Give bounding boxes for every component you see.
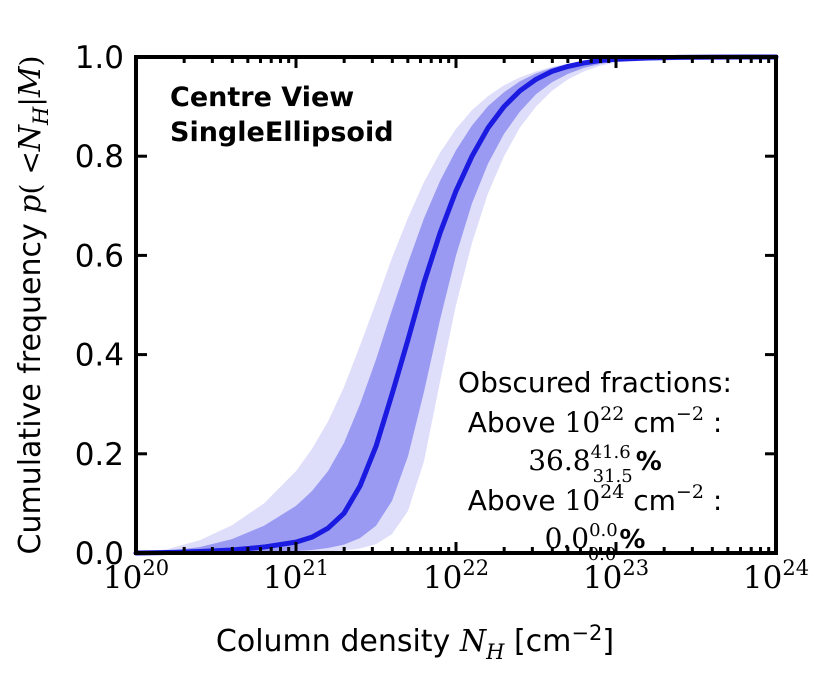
y-axis-title-bar: | <box>14 97 47 106</box>
x-axis-title-unit-close: ] <box>602 624 614 659</box>
y-axis-title-p: p <box>13 194 48 213</box>
y-tick-label-2: 0.4 <box>75 338 124 374</box>
x-tick-mantissa-1: 10 <box>263 560 302 596</box>
x-axis-title-unit-exponent: −2 <box>571 621 602 645</box>
y-axis-title-symbol-sub: H <box>29 106 53 126</box>
y-axis-title-paren-open: ( < <box>14 151 47 194</box>
x-axis-title: Column density NH [cm−2] <box>216 621 614 664</box>
above-24-unit-exponent: −2 <box>676 481 704 503</box>
x-tick-mantissa-0: 10 <box>103 560 142 596</box>
x-tick-label-0: 1020 <box>103 556 169 596</box>
x-tick-label-1: 1021 <box>263 556 329 596</box>
value-24-lower: 0.0 <box>588 544 617 565</box>
x-tick-labels: 10201021102210231024 <box>103 556 809 596</box>
y-axis-title-lead: Cumulative frequency <box>13 214 48 555</box>
annotation-above-22-label: Above 1022 cm−2 : <box>468 403 723 439</box>
above-22-mantissa: 10 <box>565 406 601 439</box>
x-axis-title-lead: Column density <box>216 624 460 659</box>
y-tick-label-1: 0.2 <box>75 437 124 473</box>
figure-canvas: 0.00.20.40.60.81.0 10201021102210231024 … <box>0 0 830 677</box>
above-22-exponent: 22 <box>600 403 624 425</box>
plot-title-line-2: SingleEllipsoid <box>170 117 394 148</box>
y-tick-label-3: 0.6 <box>75 238 124 274</box>
x-axis-title-symbol: N <box>459 624 488 659</box>
above-22-lead: Above <box>468 406 565 439</box>
x-axis-title-symbol-sub: H <box>485 640 505 664</box>
above-24-exponent: 24 <box>600 481 624 503</box>
obscured-fractions-annotation: Obscured fractions: Above 1022 cm−2 : 36… <box>458 366 732 565</box>
y-axis-title-paren-close: ) <box>14 56 47 67</box>
value-24-upper: 0.0 <box>589 520 618 541</box>
y-tick-label-4: 0.8 <box>75 139 124 175</box>
x-tick-mantissa-2: 10 <box>423 560 462 596</box>
y-axis-title: Cumulative frequency p( <NH|M) <box>13 56 53 555</box>
above-24-mantissa: 10 <box>565 484 601 517</box>
above-22-unit: cm <box>624 406 676 439</box>
x-tick-mantissa-4: 10 <box>743 560 782 596</box>
value-24-central: 0.0 <box>545 522 590 555</box>
y-axis-title-mass: M <box>13 65 48 98</box>
x-tick-exponent-1: 21 <box>302 556 329 580</box>
annotation-heading: Obscured fractions: <box>458 366 732 399</box>
y-tick-label-5: 1.0 <box>75 40 124 76</box>
above-24-colon: : <box>704 484 722 517</box>
above-24-unit: cm <box>624 484 676 517</box>
x-tick-exponent-2: 22 <box>462 556 489 580</box>
plot-title-line-1: Centre View <box>170 82 354 113</box>
x-tick-exponent-0: 20 <box>142 556 169 580</box>
x-tick-exponent-4: 24 <box>782 556 809 580</box>
value-24-unit: % <box>619 525 645 555</box>
annotation-value-22: 36.841.631.5% <box>528 442 662 487</box>
value-22-central: 36.8 <box>528 444 590 477</box>
x-tick-label-4: 1024 <box>743 556 809 596</box>
y-tick-labels: 0.00.20.40.60.81.0 <box>75 40 124 572</box>
y-axis-title-symbol: N <box>13 123 48 152</box>
x-tick-label-2: 1022 <box>423 556 489 596</box>
x-axis-title-unit-open: [cm <box>504 624 571 659</box>
above-22-colon: : <box>704 406 722 439</box>
x-tick-mantissa-3: 10 <box>583 560 622 596</box>
above-24-lead: Above <box>468 484 565 517</box>
annotation-above-24-label: Above 1024 cm−2 : <box>468 481 723 517</box>
cumulative-nh-distribution-chart: 0.00.20.40.60.81.0 10201021102210231024 … <box>0 0 830 677</box>
value-22-upper: 41.6 <box>591 442 631 463</box>
x-tick-exponent-3: 23 <box>622 556 649 580</box>
value-22-unit: % <box>636 447 662 477</box>
above-22-unit-exponent: −2 <box>676 403 704 425</box>
